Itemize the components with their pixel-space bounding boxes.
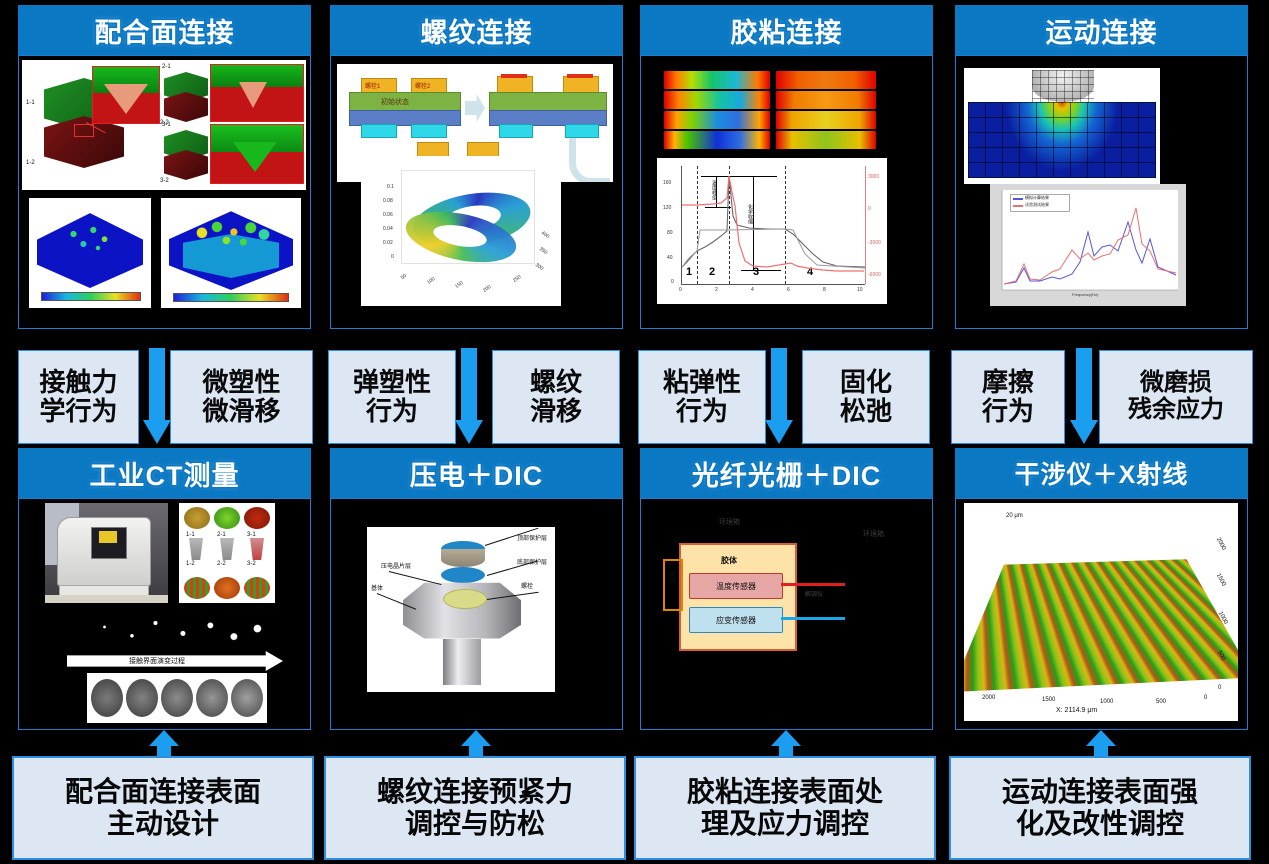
x-tick: 0 <box>1204 695 1207 701</box>
label-fiber: 解调仪 <box>805 589 823 598</box>
strain-sensor: 应变传感器 <box>689 607 783 633</box>
x-axis-label: X: 2114.9 μm <box>1056 707 1097 714</box>
fem-contour <box>968 102 1156 178</box>
y-tick: 300 <box>534 262 544 272</box>
x-tick: 2000 <box>982 695 995 701</box>
contact-spot-map-high <box>161 198 301 308</box>
case-label-3-1: 3-1 <box>162 122 171 128</box>
stress-band <box>663 90 769 108</box>
method-header-label: 工业CT测量 <box>90 454 240 493</box>
behavior-box-contact-mechanics: 接触力学行为 <box>18 350 139 444</box>
y-tick: 400 <box>540 230 550 240</box>
ct-machine-photo <box>45 503 168 603</box>
x-tick: 500 <box>1156 699 1166 705</box>
behavior-box-viscoelastic: 粘弹性行为 <box>638 350 766 444</box>
x-tick: 100 <box>426 276 436 286</box>
z-tick: 0.04 <box>383 226 393 232</box>
z-tick: 0 <box>391 254 394 260</box>
y-tick: 2000 <box>1215 537 1227 552</box>
spectrum-lines <box>990 184 1186 306</box>
piezo-bolt-schematic: 压电晶片层 顶部保护层 底部保护层 螺栓 基体 <box>367 527 555 692</box>
behavior-box-elastoplastic: 弹塑性行为 <box>328 350 456 444</box>
spectrum-xlabel: Frequency(Hz) <box>1072 292 1098 297</box>
specimen-slices-panel: 1-1 2-1 3-1 1-2 2-2 3-2 <box>179 503 275 603</box>
stress-band <box>663 110 769 128</box>
y-tick: 350 <box>538 246 548 256</box>
label-environment-chamber: 环境箱 <box>719 517 740 527</box>
fiber-red <box>781 583 845 586</box>
stress-band <box>663 130 769 148</box>
label-piezo-wafer: 压电晶片层 <box>381 561 411 570</box>
top-figure-kinematic: 模拟计算结果 试验测试结果 Frequency(Hz) <box>955 55 1248 329</box>
behavior-label: 微塑性微滑移 <box>202 368 280 426</box>
behavior-label: 摩擦行为 <box>982 368 1034 426</box>
slice-label: 2-2 <box>217 561 226 567</box>
zoom-detail-3 <box>210 124 304 184</box>
column-adhesive: 胶粘连接 <box>640 0 933 864</box>
slice-label: 3-1 <box>247 532 256 538</box>
bottom-figure-fbg: 胶体 温度传感器 应变传感器 夹具 解调仪 环境箱 环境箱 <box>640 498 933 730</box>
z-tick: 0.06 <box>383 212 393 218</box>
label-demodulator: 环境箱 <box>863 529 903 539</box>
bottom-figure-piezo-bolt: 压电晶片层 顶部保护层 底部保护层 螺栓 基体 <box>330 498 623 730</box>
case-label-3-2: 3-2 <box>160 178 169 184</box>
column-header-label: 胶粘连接 <box>731 11 843 50</box>
fe-contact-blocks-plate: 1-1 1-2 2-1 2-2 3-1 3-2 <box>22 60 306 190</box>
label-adhesive-body: 胶体 <box>721 555 737 566</box>
stress-band-warm <box>775 90 875 108</box>
behavior-label: 螺纹滑移 <box>530 368 582 426</box>
colorbar-1 <box>41 292 141 301</box>
fbg-sensor-schematic: 胶体 温度传感器 应变传感器 夹具 解调仪 <box>663 537 799 649</box>
stress-band <box>663 70 769 88</box>
bolt-seat-surface <box>443 589 487 609</box>
contact-spots-1 <box>57 220 123 260</box>
behavior-box-friction: 摩擦行为 <box>951 350 1065 444</box>
process-arrow-icon <box>465 94 485 122</box>
surface-topography-plot: 20 μm X: 2114.9 μm 2000 1500 1000 500 0 … <box>964 503 1238 721</box>
outcome-label: 运动连接表面强化及改性调控 <box>1002 776 1198 841</box>
column-header-adhesive: 胶粘连接 <box>640 5 933 55</box>
x-tick: 150 <box>454 280 464 290</box>
indenter-mesh <box>1032 70 1094 102</box>
stress-band-warm <box>775 110 875 128</box>
behavior-box-microwear: 微磨损残余应力 <box>1099 350 1253 444</box>
bolt-label-1: 螺栓1 <box>365 81 380 90</box>
temperature-sensor-label: 温度传感器 <box>716 581 756 592</box>
column-kinematic: 运动连接 模拟计算结果 试验测试结果 <box>955 0 1248 864</box>
method-header-label: 压电＋DIC <box>410 454 544 493</box>
case-label-1-2: 1-2 <box>26 160 35 166</box>
z-tick: 0.02 <box>383 240 393 246</box>
column-mating-surface: 配合面连接 1-1 1-2 2-1 2-2 <box>18 0 311 864</box>
contact-spot-map-low <box>29 198 151 308</box>
label-bolt: 螺栓 <box>521 581 533 590</box>
roadmap-diagram: 配合面连接 1-1 1-2 2-1 2-2 <box>0 0 1269 864</box>
contact-spots-2 <box>185 216 279 258</box>
frequency-spectrum-chart: 模拟计算结果 试验测试结果 Frequency(Hz) <box>990 184 1186 306</box>
topography-surface <box>964 559 1238 692</box>
column-header-kinematic: 运动连接 <box>955 5 1248 55</box>
z-scale-label: 20 μm <box>1006 513 1023 519</box>
top-figure-adhesive: 160 120 80 40 0 3000 0 -3000 -6000 0 2 4… <box>640 55 933 329</box>
outcome-box-adhesive: 胶粘连接表面处理及应力调控 <box>634 756 936 860</box>
label-fixture: 夹具 <box>667 571 676 583</box>
temperature-sensor: 温度传感器 <box>689 573 783 599</box>
x-tick: 250 <box>512 274 522 284</box>
bottom-figure-topography: 20 μm X: 2114.9 μm 2000 1500 1000 500 0 … <box>955 498 1248 730</box>
down-arrow-icon <box>768 348 790 446</box>
label-bottom-layer: 底部保护层 <box>517 557 547 566</box>
top-figure-threaded: 螺栓1 螺栓2 初始状态 拧紧螺栓1 <box>330 55 623 329</box>
down-arrow-icon <box>146 348 168 446</box>
method-header-label: 干涉仪＋X射线 <box>1015 455 1189 491</box>
label-substrate: 基体 <box>371 583 383 592</box>
fixture-bracket <box>663 559 683 611</box>
stress-band-warm <box>775 70 875 88</box>
down-arrow-icon <box>458 348 480 446</box>
zoom-detail-1 <box>92 66 160 124</box>
evolution-arrow-label: 接触界面演变过程 <box>129 656 185 666</box>
loop-arrow-icon <box>569 138 610 182</box>
bolt-label-2: 螺栓2 <box>415 81 430 90</box>
interface-evolution-speckles <box>81 611 277 651</box>
column-header-mating-surface: 配合面连接 <box>18 5 311 55</box>
column-header-label: 螺纹连接 <box>421 11 533 50</box>
outcome-box-threaded: 螺纹连接预紧力调控与防松 <box>324 756 626 860</box>
piezo-wafer-layer <box>441 549 485 567</box>
fiber-blue <box>781 617 845 620</box>
outcome-label: 配合面连接表面主动设计 <box>65 776 261 841</box>
slice-label: 1-2 <box>186 561 195 567</box>
label-top-layer: 顶部保护层 <box>517 533 547 542</box>
behavior-label: 弹塑性行为 <box>353 368 431 426</box>
outcome-box-kinematic: 运动连接表面强化及改性调控 <box>949 756 1251 860</box>
column-header-label: 运动连接 <box>1046 11 1158 50</box>
strain-sensor-label: 应变传感器 <box>716 615 756 626</box>
z-tick: 0.1 <box>387 184 394 190</box>
z-tick: 0.08 <box>383 198 393 204</box>
slice-label: 3-2 <box>247 561 256 567</box>
method-header-label: 光纤光栅＋DIC <box>692 454 882 493</box>
indentation-fem-plot <box>964 68 1160 184</box>
x-tick: 1000 <box>1100 699 1113 705</box>
method-header-piezo-dic: 压电＋DIC <box>330 448 623 498</box>
top-figure-mating-surface: 1-1 1-2 2-1 2-2 3-1 3-2 <box>18 55 311 329</box>
y-tick: 0 <box>1218 685 1221 691</box>
bottom-figure-ct: 1-1 2-1 3-1 1-2 2-2 3-2 接触界面演变过程 <box>18 498 311 730</box>
column-threaded: 螺纹连接 螺栓1 螺栓2 初始状态 拧紧螺栓1 <box>330 0 623 864</box>
case-label-1-1: 1-1 <box>26 100 35 106</box>
column-header-label: 配合面连接 <box>95 11 235 50</box>
column-header-threaded: 螺纹连接 <box>330 5 623 55</box>
down-arrow-icon <box>1073 348 1095 446</box>
case-label-2-1: 2-1 <box>162 64 171 70</box>
zoom-detail-2 <box>210 64 304 122</box>
x-tick: 50 <box>400 273 408 281</box>
bolt-shank <box>443 639 481 685</box>
behavior-label: 固化松弛 <box>840 368 892 426</box>
preload-surface-chart: 0.1 0.08 0.06 0.04 0.02 0 50 100 150 200… <box>361 156 561 306</box>
ct-slice-strip <box>87 673 267 723</box>
cure-curve-chart: 160 120 80 40 0 3000 0 -3000 -6000 0 2 4… <box>657 158 887 304</box>
behavior-label: 微磨损残余应力 <box>1128 370 1224 424</box>
x-tick: 1500 <box>1042 697 1055 703</box>
colorbar-2 <box>173 293 289 302</box>
behavior-label: 粘弹性行为 <box>663 368 741 426</box>
behavior-box-cure-relaxation: 固化松弛 <box>802 350 930 444</box>
cure-curve-lines <box>657 158 887 304</box>
bottom-protection-layer <box>441 567 485 583</box>
behavior-box-thread-slip: 螺纹滑移 <box>492 350 620 444</box>
method-header-ct: 工业CT测量 <box>18 448 311 498</box>
slice-label: 2-1 <box>217 532 226 538</box>
behavior-box-microplasticity: 微塑性微滑移 <box>170 350 313 444</box>
behavior-label: 接触力学行为 <box>39 368 117 426</box>
x-tick: 200 <box>482 284 492 294</box>
method-header-interferometer-xray: 干涉仪＋X射线 <box>955 448 1248 498</box>
outcome-box-mating-surface: 配合面连接表面主动设计 <box>12 756 314 860</box>
method-header-fbg-dic: 光纤光栅＋DIC <box>640 448 933 498</box>
slice-label: 1-1 <box>186 532 195 538</box>
outcome-label: 螺纹连接预紧力调控与防松 <box>377 776 573 841</box>
state-label-initial: 初始状态 <box>381 97 409 107</box>
stress-band-warm <box>775 130 875 148</box>
outcome-label: 胶粘连接表面处理及应力调控 <box>687 776 883 841</box>
y-tick: 1500 <box>1215 573 1227 588</box>
